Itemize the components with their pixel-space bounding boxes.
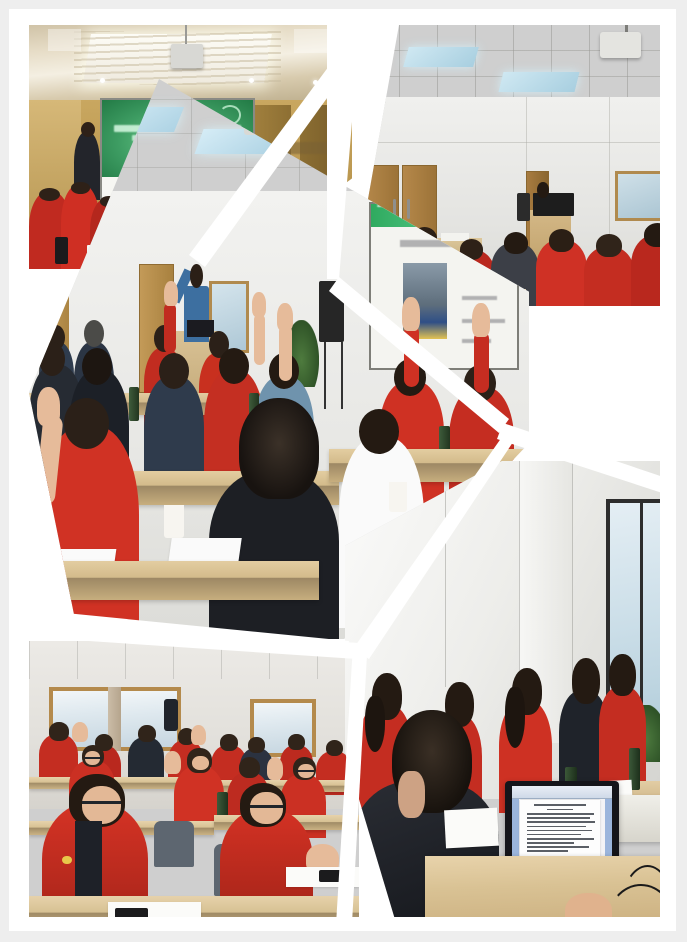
attendee-head bbox=[644, 223, 671, 247]
document-line bbox=[527, 838, 594, 840]
podium-laptop bbox=[187, 320, 215, 337]
raised-hand bbox=[191, 725, 206, 745]
attendee-head bbox=[159, 353, 189, 389]
attendee-head bbox=[609, 654, 636, 696]
document-line bbox=[527, 850, 569, 852]
student-head bbox=[138, 725, 156, 742]
presenter-head bbox=[81, 122, 95, 137]
ceiling-projector bbox=[600, 32, 641, 57]
ceiling-panel bbox=[48, 29, 80, 51]
attendee-head bbox=[239, 398, 319, 499]
speaker-head bbox=[537, 182, 548, 198]
raised-hand bbox=[37, 387, 60, 426]
wall-seam bbox=[361, 142, 676, 143]
laptop-screen[interactable] bbox=[512, 786, 612, 865]
attendee-head bbox=[39, 342, 65, 376]
smartphone bbox=[115, 908, 148, 923]
document-line bbox=[527, 830, 593, 832]
raised-hand bbox=[472, 303, 490, 337]
raised-arm bbox=[474, 331, 489, 393]
slide-body-text bbox=[462, 296, 497, 300]
attendee-head bbox=[359, 409, 399, 454]
raised-hand bbox=[252, 292, 266, 317]
raised-arm bbox=[404, 325, 419, 387]
student-head bbox=[49, 722, 69, 741]
raised-hand bbox=[277, 303, 293, 331]
attendee-head bbox=[572, 658, 600, 703]
raised-hand bbox=[402, 297, 420, 331]
operator-ear bbox=[398, 771, 425, 818]
fluorescent-light-panel bbox=[403, 47, 479, 67]
wall-edge bbox=[445, 461, 446, 687]
paper-cup bbox=[164, 505, 184, 539]
collage-outer-frame bbox=[0, 0, 687, 942]
raised-hand bbox=[267, 757, 284, 780]
door-handle[interactable] bbox=[407, 199, 410, 219]
student-face bbox=[192, 756, 209, 771]
photo-panel-seated-students-front[interactable] bbox=[29, 641, 359, 931]
paper-cup bbox=[389, 482, 407, 512]
document-line bbox=[527, 842, 575, 844]
raised-hand bbox=[164, 281, 178, 306]
document-line bbox=[527, 834, 581, 836]
document-line bbox=[527, 846, 589, 848]
eyeglasses bbox=[296, 770, 314, 772]
word-processor-ribbon[interactable] bbox=[512, 786, 612, 799]
pa-speaker bbox=[319, 281, 344, 343]
document-title-line bbox=[534, 804, 585, 806]
downlight bbox=[100, 78, 105, 83]
attendee-head bbox=[84, 320, 104, 347]
photo-panel-laptop-operator[interactable] bbox=[345, 461, 676, 931]
attendee-head bbox=[219, 348, 249, 384]
thermos-bottle bbox=[55, 237, 68, 264]
student-head bbox=[326, 740, 343, 757]
attendee-head bbox=[596, 234, 621, 257]
attendee-head bbox=[82, 348, 112, 385]
student-head bbox=[220, 734, 238, 751]
fluorescent-light-panel bbox=[498, 72, 579, 92]
raised-hand bbox=[164, 751, 181, 774]
document-line bbox=[527, 817, 591, 819]
downlight bbox=[249, 78, 254, 83]
seated-students-scene bbox=[29, 641, 359, 931]
document-line bbox=[527, 821, 596, 823]
lecture-window bbox=[615, 171, 672, 222]
collage-canvas bbox=[9, 9, 676, 931]
speaker-body bbox=[517, 193, 530, 221]
raised-hand bbox=[72, 722, 89, 742]
thermos-bottle bbox=[129, 387, 139, 421]
student-head bbox=[239, 757, 261, 778]
frame-edge-top bbox=[9, 9, 676, 25]
attendee-head bbox=[549, 229, 574, 252]
raised-arm bbox=[164, 303, 176, 353]
ceiling-panel bbox=[294, 29, 333, 54]
attendee-head bbox=[64, 398, 109, 448]
frame-edge-left bbox=[9, 9, 27, 931]
student-collar bbox=[75, 821, 101, 908]
classroom-ceiling bbox=[29, 641, 359, 679]
raised-arm bbox=[279, 325, 292, 381]
student-head bbox=[248, 737, 265, 753]
laptop-operator-scene bbox=[345, 461, 676, 931]
eyeglasses bbox=[82, 801, 122, 804]
student bbox=[128, 737, 164, 781]
documents bbox=[444, 807, 499, 847]
speaker-tripod bbox=[324, 342, 343, 409]
document-line bbox=[527, 826, 586, 828]
desk-row-front bbox=[29, 561, 319, 600]
document-line bbox=[527, 813, 594, 815]
document-line bbox=[547, 809, 573, 811]
ceiling-projector bbox=[171, 44, 203, 69]
eyeglasses bbox=[250, 805, 283, 808]
window-mullion bbox=[640, 503, 643, 721]
chair bbox=[154, 821, 194, 867]
raised-hand bbox=[164, 699, 178, 731]
student-head bbox=[288, 734, 305, 750]
student-face bbox=[82, 786, 122, 824]
document-page bbox=[520, 800, 600, 858]
eyeglasses bbox=[85, 757, 102, 759]
smartphone bbox=[319, 870, 349, 882]
attendee-head bbox=[504, 232, 528, 254]
raised-arm bbox=[254, 314, 265, 364]
lapel-badge bbox=[62, 856, 72, 865]
